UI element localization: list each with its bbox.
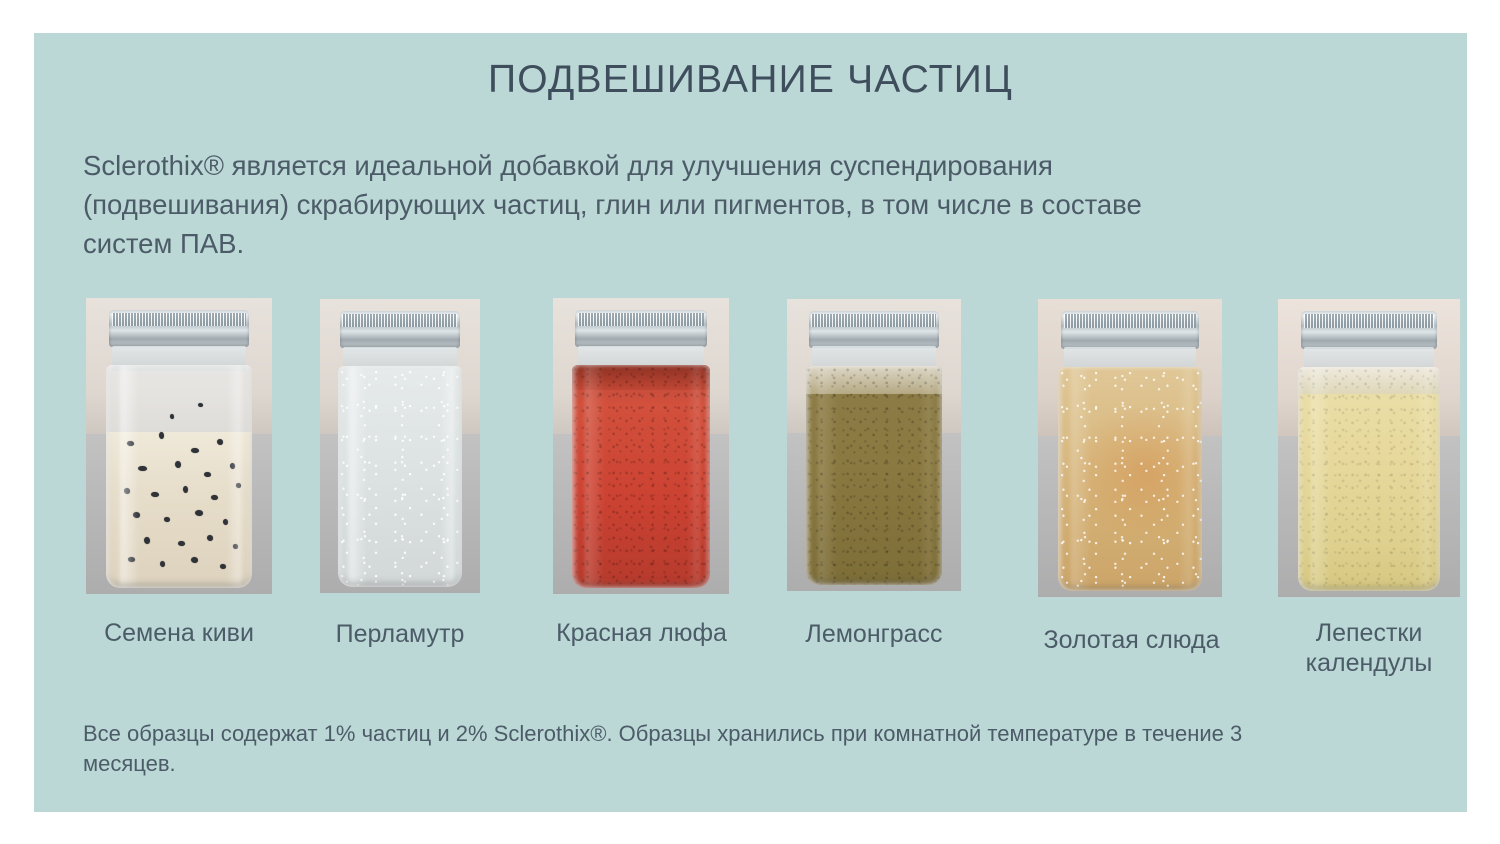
slide-canvas: ПОДВЕШИВАНИЕ ЧАСТИЦ Sclerothix® является…: [34, 33, 1467, 812]
jar-lid-icon: [1061, 311, 1199, 349]
jar-photo-gold-mica: [1038, 299, 1222, 597]
jar-photo-pearl: [320, 299, 480, 593]
footnote: Все образцы содержат 1% частиц и 2% Scle…: [83, 719, 1423, 779]
caption-gold-mica: Золотая слюда: [1019, 625, 1244, 655]
sample-gallery: Семена киви Перламутр: [34, 33, 1467, 812]
footnote-line-2: месяцев.: [83, 749, 1423, 779]
caption-pearl: Перламутр: [300, 619, 500, 649]
caption-red-loofah: Красная люфа: [534, 618, 749, 648]
jar-photo-calendula-petals: [1278, 299, 1460, 597]
caption-kiwi-seeds: Семена киви: [74, 618, 284, 648]
jar-lid-icon: [109, 310, 248, 348]
jar-lid-icon: [575, 310, 707, 348]
jar-photo-lemongrass: [787, 299, 961, 591]
jar-photo-kiwi-seeds: [86, 298, 272, 594]
footnote-line-1: Все образцы содержат 1% частиц и 2% Scle…: [83, 719, 1423, 749]
caption-calendula-petals: Лепестки календулы: [1269, 618, 1469, 678]
jar-photo-red-loofah: [553, 298, 729, 594]
jar-lid-icon: [1301, 311, 1437, 349]
jar-lid-icon: [809, 311, 939, 348]
caption-lemongrass: Лемонграсс: [769, 619, 979, 649]
jar-lid-icon: [340, 311, 460, 348]
